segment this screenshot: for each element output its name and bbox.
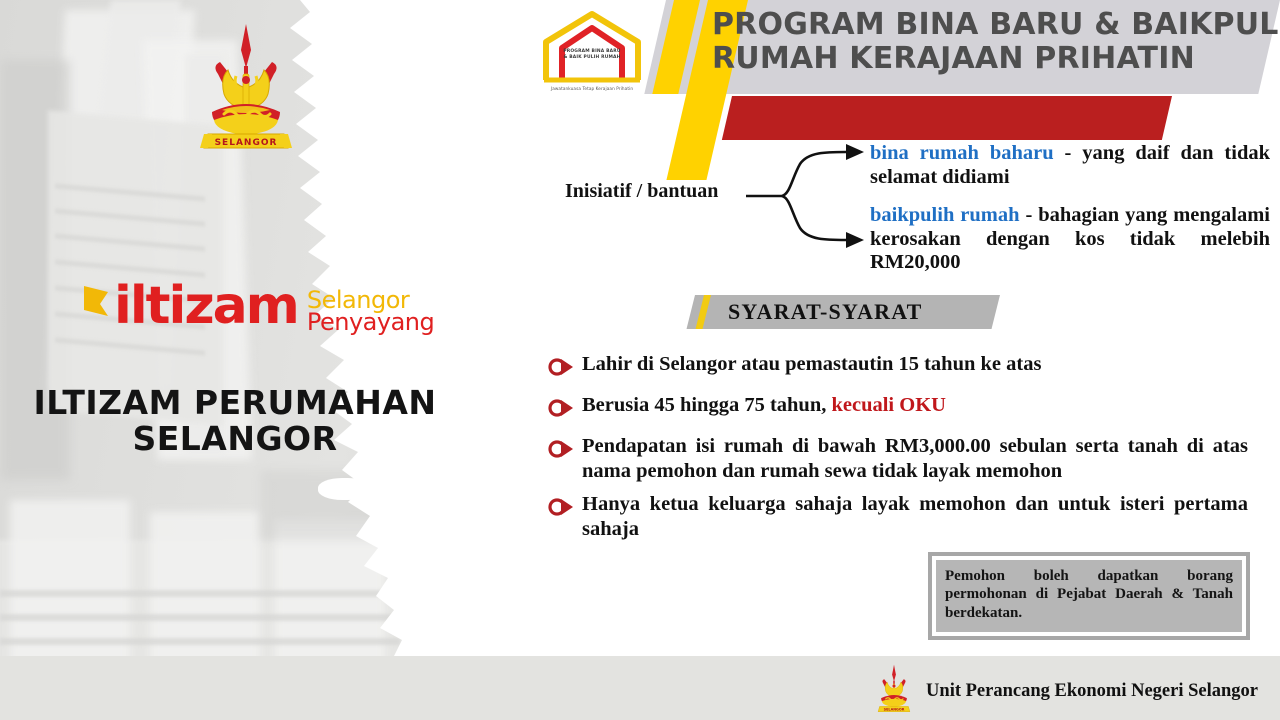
header-red-band xyxy=(722,96,1172,140)
diagram-root-label: Inisiatif / bantuan xyxy=(565,180,718,203)
footer-content: SELANGOR Unit Perancang Ekonomi Negeri S… xyxy=(874,664,1258,719)
arrow-circle-icon xyxy=(548,396,582,425)
svg-text:SELANGOR: SELANGOR xyxy=(884,708,905,712)
tear-nick xyxy=(330,60,376,90)
conditions-list: Lahir di Selangor atau pemastautin 15 ta… xyxy=(548,352,1248,550)
list-item-text: Lahir di Selangor atau pemastautin 15 ta… xyxy=(582,352,1242,377)
iltizam-wordmark: iltizam xyxy=(114,282,298,331)
program-logo-caption: PROGRAM BINA BARU & BAIK PULIH RUMAH xyxy=(540,49,644,61)
initiative-diagram: Inisiatif / bantuan bina rumah baharu - … xyxy=(560,140,1280,290)
diagram-branch-2: baikpulih rumah - bahagian yang mengalam… xyxy=(870,204,1270,275)
crest-banner-text: SELANGOR xyxy=(215,138,278,148)
list-item: Lahir di Selangor atau pemastautin 15 ta… xyxy=(548,352,1248,384)
list-item-text: Berusia 45 hingga 75 tahun, xyxy=(582,394,831,416)
iltizam-tagline-line2: Penyayang xyxy=(307,310,434,334)
header-banner: PROGRAM BINA BARU & BAIKPULIH RUMAH KERA… xyxy=(640,0,1280,150)
program-logo-caption-line2: & BAIK PULIH RUMAH xyxy=(540,55,644,61)
footer-selangor-crest-icon: SELANGOR xyxy=(874,664,914,719)
list-item-emphasis: kecuali OKU xyxy=(831,394,945,416)
arrow-circle-icon xyxy=(548,495,582,524)
header-title-line2: RUMAH KERAJAAN PRIHATIN xyxy=(712,42,1272,76)
program-logo-subtitle: Jawatankuasa Tetap Kerajaan Prihatin xyxy=(532,86,652,91)
list-item-text-group: Berusia 45 hingga 75 tahun, kecuali OKU xyxy=(582,393,1242,418)
left-title-line2: SELANGOR xyxy=(0,421,470,457)
left-panel: SELANGOR iltizam Selangor Penyayang ILTI… xyxy=(0,0,470,720)
iltizam-logo: iltizam Selangor Penyayang xyxy=(78,282,428,344)
footer-bar: SELANGOR Unit Perancang Ekonomi Negeri S… xyxy=(0,656,1280,720)
list-item: Berusia 45 hingga 75 tahun, kecuali OKU xyxy=(548,393,1248,425)
note-box: Pemohon boleh dapatkan borang permohonan… xyxy=(928,552,1250,640)
program-logo: PROGRAM BINA BARU & BAIK PULIH RUMAH Jaw… xyxy=(532,6,652,96)
iltizam-flag-icon xyxy=(78,282,112,344)
tear-nick xyxy=(318,478,372,500)
tear-nick xyxy=(352,150,392,176)
selangor-crest-icon: SELANGOR xyxy=(198,22,294,154)
left-title-line1: ILTIZAM PERUMAHAN xyxy=(0,385,470,421)
infographic-canvas: SELANGOR iltizam Selangor Penyayang ILTI… xyxy=(0,0,1280,720)
footer-text: Unit Perancang Ekonomi Negeri Selangor xyxy=(926,681,1258,702)
iltizam-tagline: Selangor Penyayang xyxy=(307,288,434,334)
diagram-branch-2-highlight: baikpulih rumah xyxy=(870,204,1020,226)
list-item-text: Hanya ketua keluarga sahaja layak memoho… xyxy=(582,492,1248,541)
note-box-inner: Pemohon boleh dapatkan borang permohonan… xyxy=(936,560,1242,632)
diagram-branch-1-highlight: bina rumah baharu xyxy=(870,142,1054,164)
arrow-circle-icon xyxy=(548,437,582,466)
header-title-line1: PROGRAM BINA BARU & BAIKPULIH xyxy=(712,8,1272,42)
diagram-branch-1: bina rumah baharu - yang daif dan tidak … xyxy=(870,142,1270,189)
left-panel-title: ILTIZAM PERUMAHAN SELANGOR xyxy=(0,385,470,456)
header-title: PROGRAM BINA BARU & BAIKPULIH RUMAH KERA… xyxy=(712,8,1272,75)
note-box-text: Pemohon boleh dapatkan borang permohonan… xyxy=(945,567,1233,622)
list-item-text: Pendapatan isi rumah di bawah RM3,000.00… xyxy=(582,434,1248,483)
conditions-section-header: SYARAT-SYARAT xyxy=(680,295,1000,329)
list-item: Pendapatan isi rumah di bawah RM3,000.00… xyxy=(548,434,1248,483)
list-item: Hanya ketua keluarga sahaja layak memoho… xyxy=(548,492,1248,541)
conditions-header-text: SYARAT-SYARAT xyxy=(728,299,923,325)
arrow-circle-icon xyxy=(548,355,582,384)
